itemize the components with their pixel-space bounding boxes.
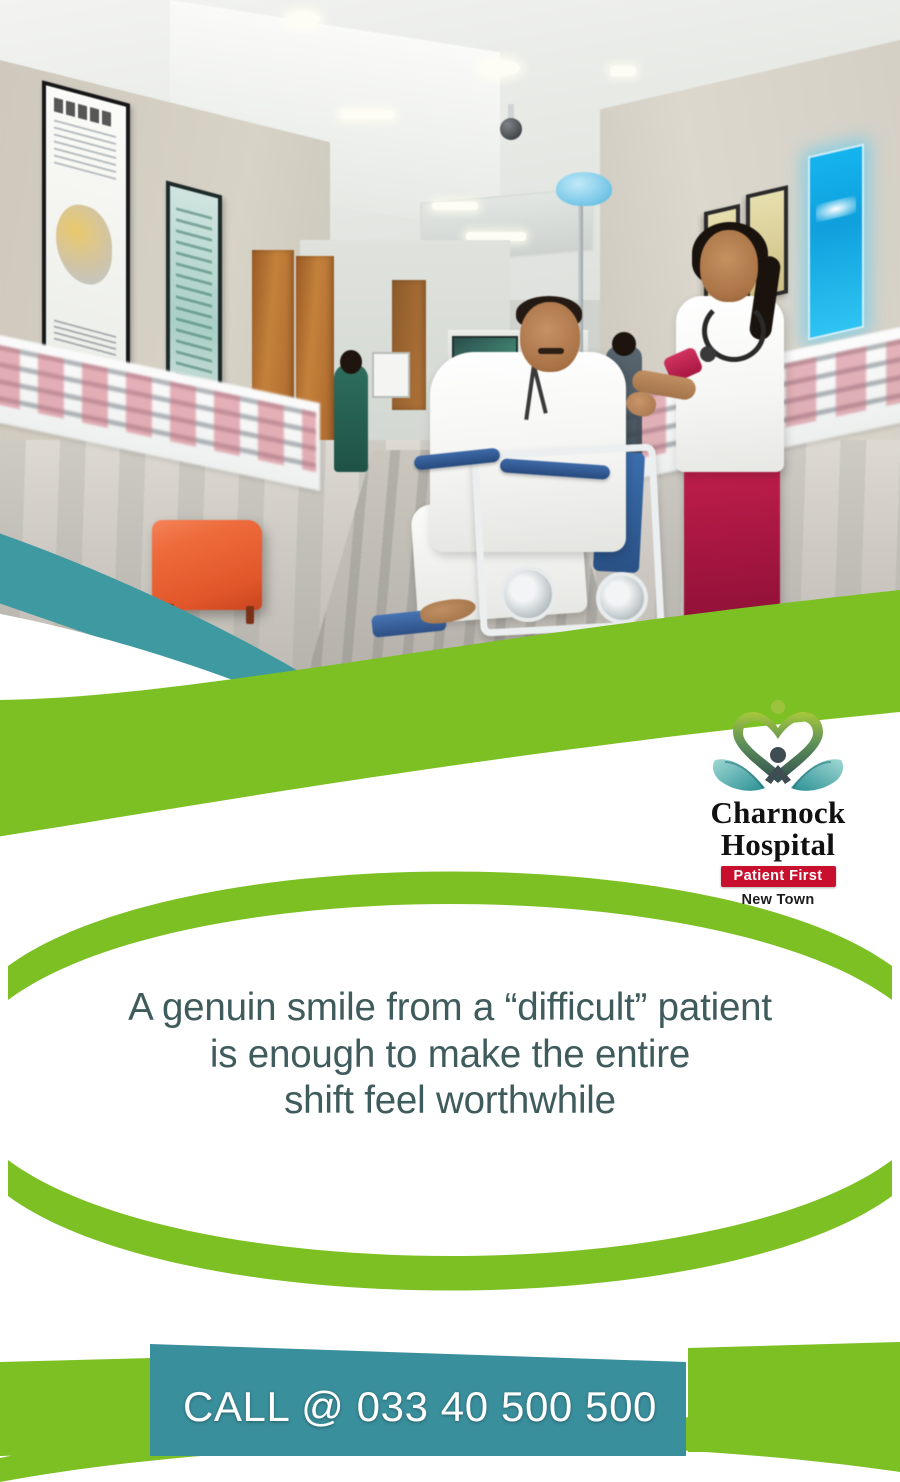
quote-line-3: shift feel worthwhile: [48, 1078, 852, 1125]
wall-poster: [42, 80, 130, 382]
sign-glow: [816, 195, 856, 222]
quote-arc-bottom: [8, 1160, 892, 1291]
cta-phone-text[interactable]: CALL @ 033 40 500 500: [150, 1383, 690, 1431]
ceiling-light: [480, 60, 520, 76]
corridor-sign: [372, 352, 410, 398]
ceiling-light: [340, 110, 394, 119]
wheelchair-wheel: [500, 566, 556, 622]
logo-name-line1: Charnock: [660, 798, 896, 828]
logo-location: New Town: [660, 892, 896, 908]
quote-block: A genuin smile from a “difficult” patien…: [48, 985, 852, 1125]
logo-tagline-badge: Patient First: [721, 866, 836, 887]
background-staff-head: [612, 332, 636, 356]
security-camera-icon: [500, 118, 522, 140]
backlit-sign: [808, 144, 864, 341]
poster-text-block: [54, 119, 116, 180]
patient-head: [520, 302, 580, 372]
ceiling-light: [610, 66, 636, 76]
background-staff-head: [340, 350, 362, 374]
hospital-corridor-photo: [0, 0, 900, 700]
nurse-skirt: [684, 452, 780, 630]
wheelchair-wheel: [596, 572, 648, 624]
orange-ottoman: [152, 520, 262, 610]
poster-diagram: [56, 198, 112, 291]
quote-line-2: is enough to make the entire: [48, 1032, 852, 1079]
iv-bag: [556, 172, 612, 206]
logo-name-line2: Hospital: [660, 830, 896, 860]
background-staff: [334, 364, 368, 472]
ceiling-light: [286, 12, 320, 26]
logo-dot: [771, 700, 785, 714]
quote-line-1: A genuin smile from a “difficult” patien…: [48, 985, 852, 1032]
nurse-head: [700, 230, 758, 302]
ceiling-light: [432, 202, 478, 210]
stethoscope-bell: [700, 346, 716, 362]
logo-person-head: [770, 747, 786, 763]
ottoman-leg: [166, 604, 174, 622]
heart-hands-person-icon: [703, 698, 853, 796]
cta-green-block-right: [688, 1342, 900, 1452]
patient-moustache: [538, 348, 564, 354]
hospital-logo: Charnock Hospital Patient First New Town: [660, 698, 896, 910]
cta-green-block-left: [0, 1358, 152, 1456]
poster-text-block: [176, 207, 212, 387]
poster-root: Charnock Hospital Patient First New Town…: [0, 0, 900, 1482]
ottoman-leg: [246, 606, 254, 624]
hero-photo: [0, 0, 900, 700]
